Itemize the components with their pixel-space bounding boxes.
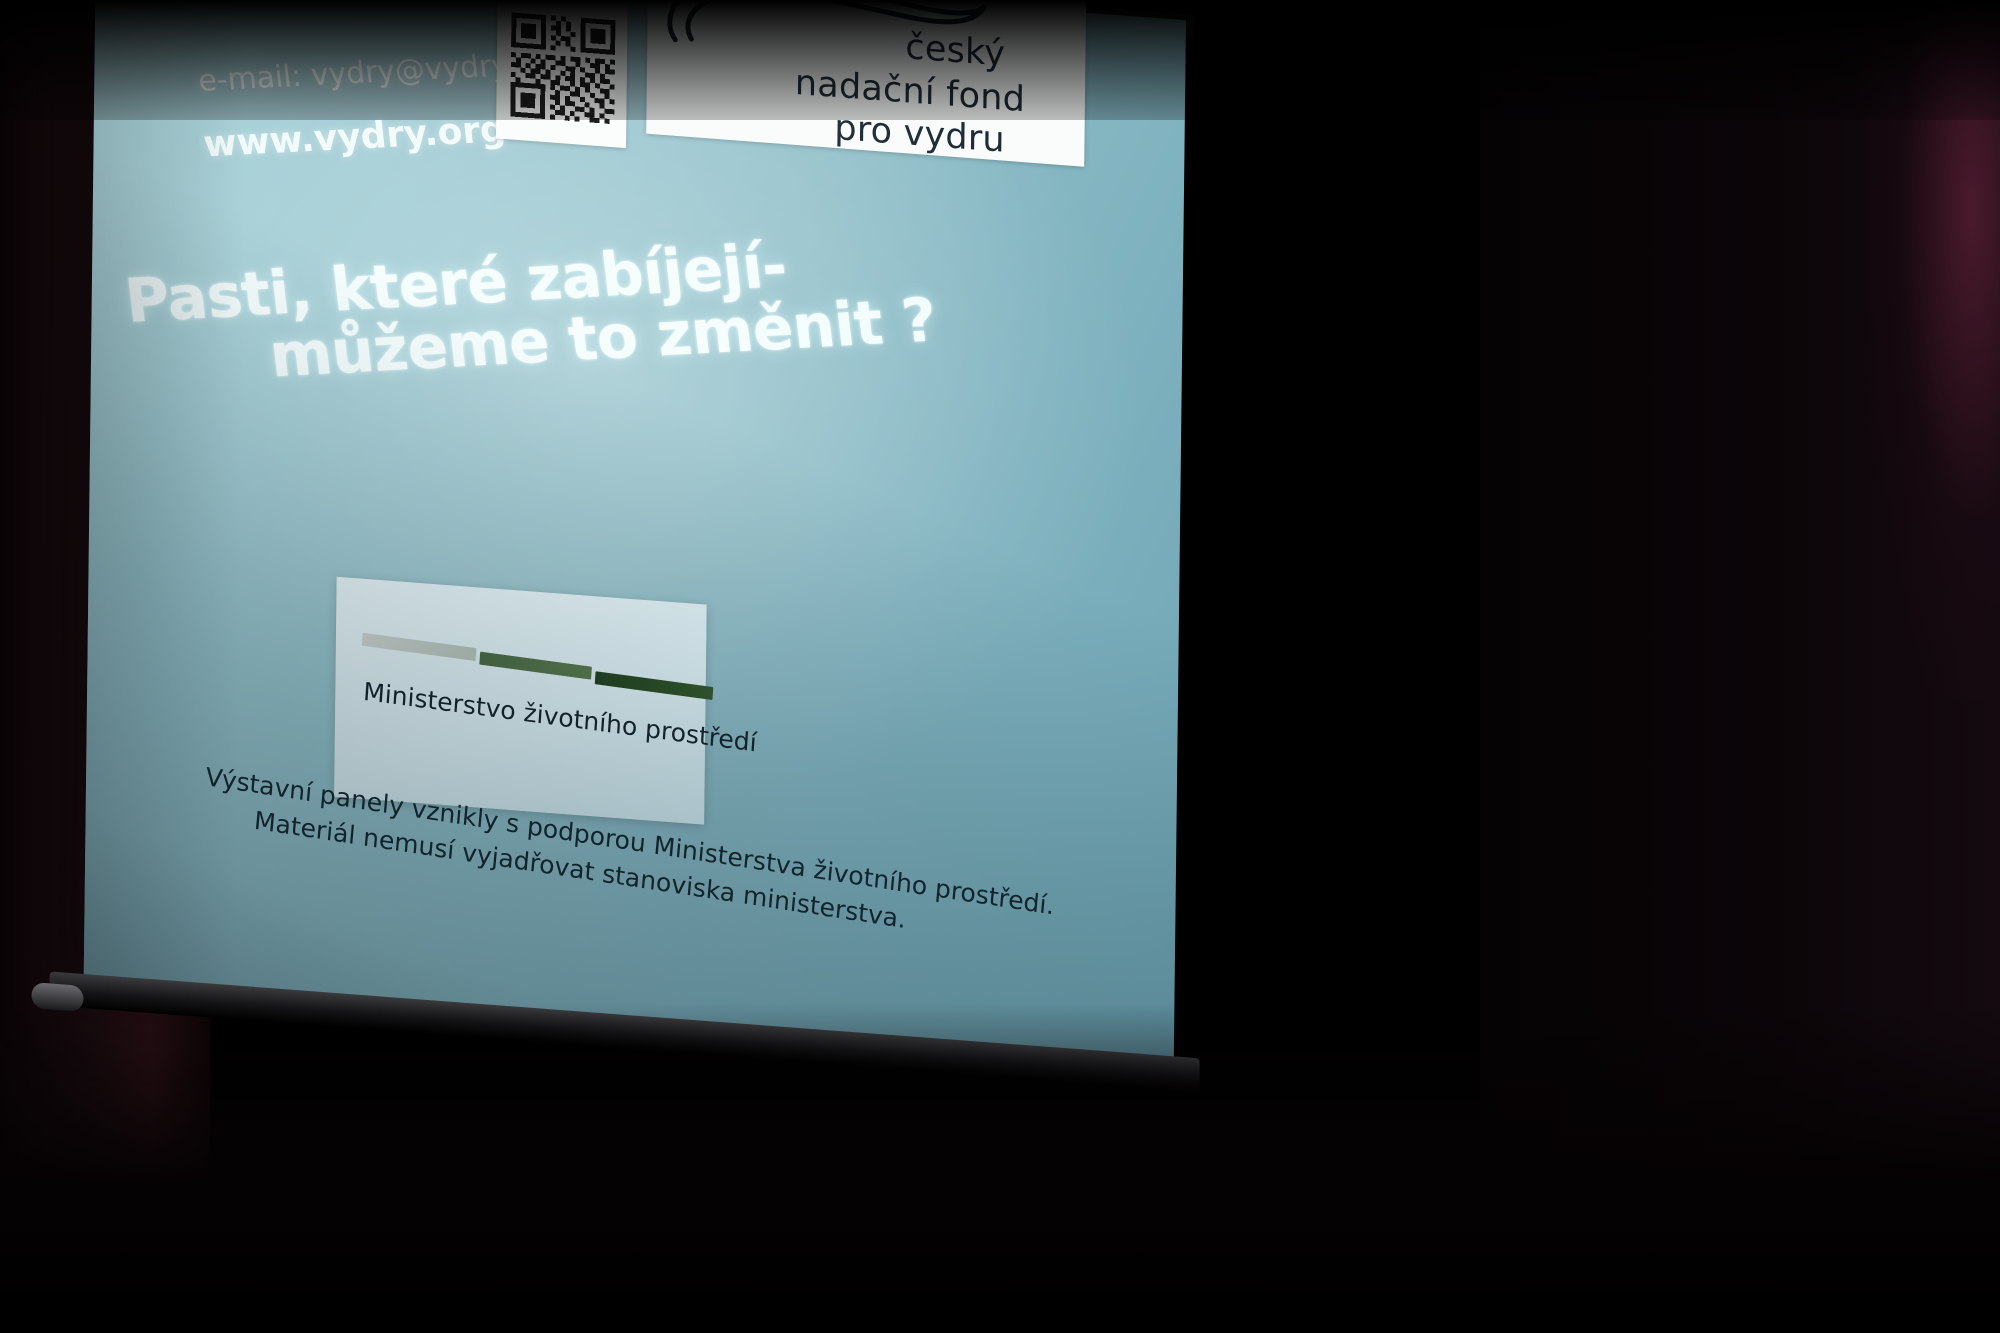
slide-title: Pasti, které zabíjejí- můžeme to změnit … [122,213,1209,397]
room-floor-shadow [0,1003,2000,1333]
room-ceiling-shadow [0,0,2000,120]
photo-stage: e-mail: vydry@vydry.org www.vydry.org [0,0,2000,1333]
screen-surface: e-mail: vydry@vydry.org www.vydry.org [84,0,1186,1060]
projection-screen: e-mail: vydry@vydry.org www.vydry.org [84,0,1186,1060]
ministry-bar-3 [595,671,714,700]
ministry-bar-2 [479,652,592,680]
ministry-bar-1 [362,633,477,661]
